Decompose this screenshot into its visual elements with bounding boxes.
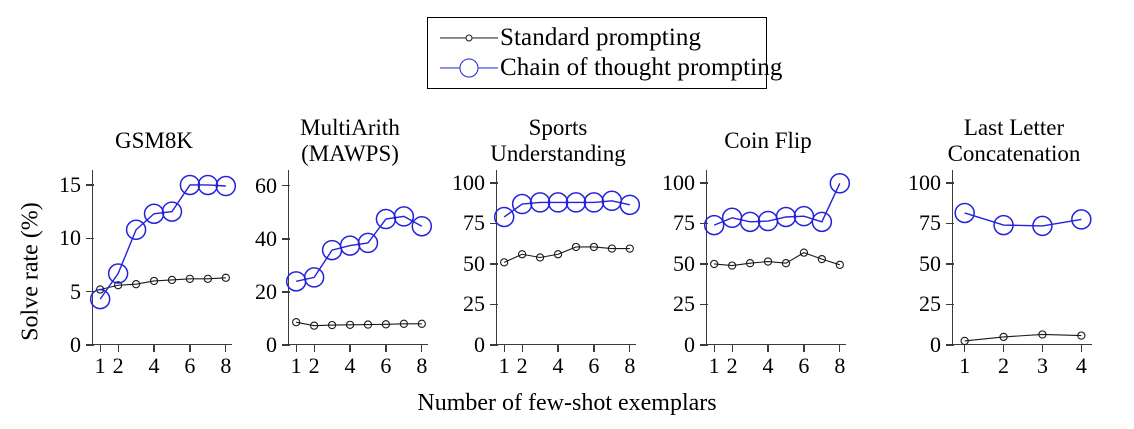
x-tick: [349, 344, 350, 352]
y-tick-label: 75: [425, 212, 485, 234]
x-tick: [767, 344, 768, 352]
x-tick-label: 6: [798, 355, 809, 377]
x-tick: [118, 344, 119, 352]
x-tick: [1081, 344, 1082, 352]
series-cot: [91, 175, 236, 308]
x-tick-label: 1: [959, 355, 970, 377]
x-tick-label: 2: [998, 355, 1009, 377]
x-tick-label: 4: [553, 355, 564, 377]
x-tick: [314, 344, 315, 352]
x-tick-label: 2: [113, 355, 124, 377]
panel-title: Sports Understanding: [488, 115, 628, 167]
y-tick-label: 0: [881, 334, 941, 356]
x-tick-label: 8: [624, 355, 635, 377]
data-point: [495, 207, 514, 226]
data-point: [705, 216, 724, 235]
y-tick-label: 25: [425, 293, 485, 315]
x-tick-label: 8: [834, 355, 845, 377]
y-tick-label: 100: [881, 172, 941, 194]
y-tick-label: 40: [217, 228, 277, 250]
x-tick-label: 4: [763, 355, 774, 377]
y-tick-label: 75: [881, 212, 941, 234]
x-tick: [557, 344, 558, 352]
figure-root: Standard promptingChain of thought promp…: [0, 0, 1134, 429]
x-tick: [1042, 344, 1043, 352]
plot-area: 05101512468: [92, 170, 232, 345]
x-tick-label: 2: [727, 355, 738, 377]
x-tick: [803, 344, 804, 352]
series-line: [965, 334, 1082, 340]
plot-area: 020406012468: [288, 170, 428, 345]
x-tick: [153, 344, 154, 352]
x-tick: [385, 344, 386, 352]
x-tick: [629, 344, 630, 352]
panel-sports-uderstadig: Sports Understanding025507510012468: [426, 0, 656, 429]
x-tick: [732, 344, 733, 352]
panel-title: MultiArith (MAWPS): [280, 115, 420, 167]
y-tick-label: 50: [425, 253, 485, 275]
plot-area: 025507510012468: [496, 170, 636, 345]
y-tick-label: 0: [217, 334, 277, 356]
series-cot: [705, 174, 850, 235]
y-tick-label: 50: [881, 253, 941, 275]
y-tick-label: 100: [425, 172, 485, 194]
x-tick-label: 4: [345, 355, 356, 377]
plot-area: 02550751001234: [952, 170, 1092, 345]
series-cot: [955, 203, 1091, 235]
x-tick: [421, 344, 422, 352]
series-layer: [497, 170, 637, 345]
series-line: [965, 213, 1082, 226]
x-tick-label: 6: [380, 355, 391, 377]
series-layer: [707, 170, 847, 345]
panel-last-letter-cocateatio: Last Letter Concatenation02550751001234: [882, 0, 1112, 429]
y-axis-title: Solve rate (%): [18, 177, 45, 367]
x-tick-label: 4: [1076, 355, 1087, 377]
series-line: [504, 247, 630, 262]
series-standard: [293, 319, 426, 330]
series-layer: [93, 170, 233, 345]
x-tick: [714, 344, 715, 352]
y-tick-label: 20: [217, 281, 277, 303]
series-layer: [289, 170, 429, 345]
x-tick: [189, 344, 190, 352]
y-tick-label: 25: [881, 293, 941, 315]
x-tick: [839, 344, 840, 352]
y-tick-label: 60: [217, 175, 277, 197]
data-point: [955, 203, 974, 222]
x-tick-label: 2: [309, 355, 320, 377]
series-cot: [287, 207, 432, 291]
panel-coi-flip: Coin Flip025507510012468: [636, 0, 866, 429]
x-tick: [593, 344, 594, 352]
x-tick-label: 2: [517, 355, 528, 377]
series-line: [714, 253, 840, 266]
plot-area: 025507510012468: [706, 170, 846, 345]
x-tick-label: 4: [149, 355, 160, 377]
series-standard: [501, 243, 634, 266]
x-tick-label: 6: [184, 355, 195, 377]
x-tick-label: 1: [709, 355, 720, 377]
x-tick-label: 1: [291, 355, 302, 377]
panel-multiarith-mawps: MultiArith (MAWPS)020406012468: [218, 0, 448, 429]
y-tick-label: 50: [635, 253, 695, 275]
series-standard: [961, 331, 1085, 345]
x-tick: [522, 344, 523, 352]
y-tick-label: 0: [635, 334, 695, 356]
y-tick-label: 75: [635, 212, 695, 234]
data-point: [501, 259, 508, 266]
x-tick-label: 1: [95, 355, 106, 377]
data-point: [287, 272, 306, 291]
panel-title: Coin Flip: [698, 128, 838, 154]
series-standard: [711, 249, 844, 269]
x-tick: [296, 344, 297, 352]
series-layer: [953, 170, 1093, 345]
series-cot: [495, 191, 640, 226]
y-tick-label: 25: [635, 293, 695, 315]
y-tick-label: 100: [635, 172, 695, 194]
panel-title: GSM8K: [84, 128, 224, 154]
x-tick: [504, 344, 505, 352]
y-tick-label: 0: [425, 334, 485, 356]
x-tick: [1003, 344, 1004, 352]
x-tick: [964, 344, 965, 352]
x-tick-label: 6: [588, 355, 599, 377]
x-tick-label: 1: [499, 355, 510, 377]
x-tick-label: 3: [1037, 355, 1048, 377]
x-axis-title: Number of few-shot exemplars: [0, 390, 1134, 417]
panel-title: Last Letter Concatenation: [944, 115, 1084, 167]
x-tick: [100, 344, 101, 352]
